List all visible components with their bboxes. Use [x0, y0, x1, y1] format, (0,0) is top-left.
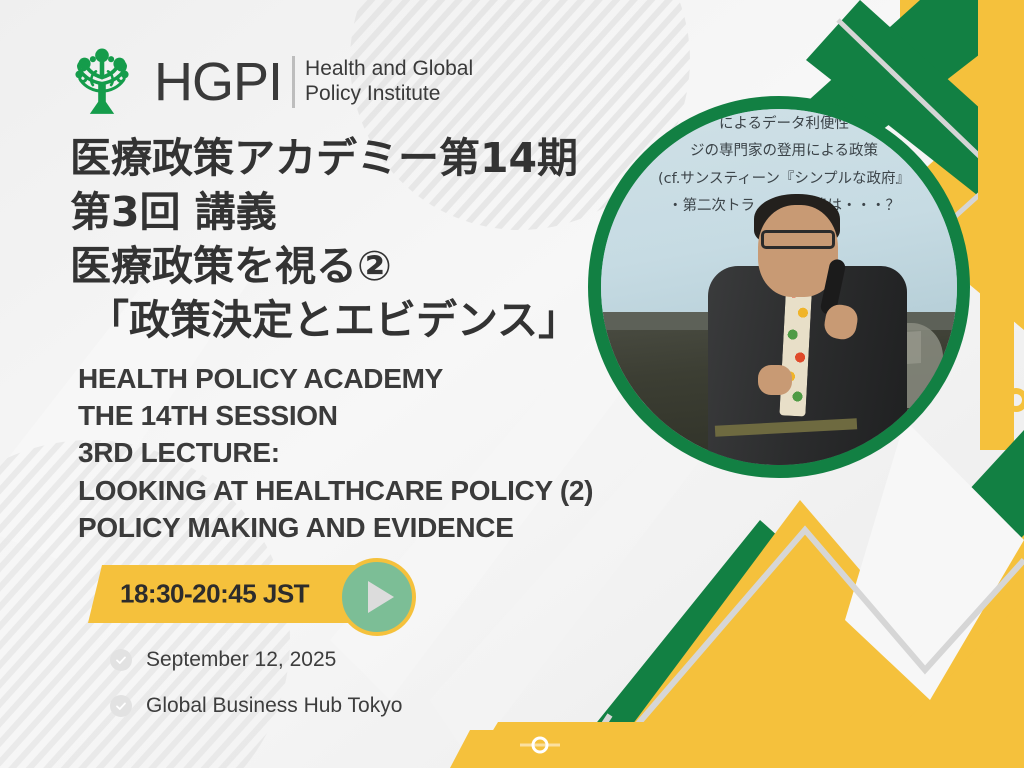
slide-text-line1: によるデータ利便性: [601, 111, 957, 138]
speaker-photo: によるデータ利便性 ジの専門家の登用による政策 (cf.サンスティーン『シンプル…: [588, 96, 970, 478]
tree-logo-icon: [64, 44, 140, 120]
list-item: Global Business Hub Tokyo: [110, 694, 402, 718]
english-title-line1: HEALTH POLICY ACADEMY: [78, 360, 593, 397]
event-date: September 12, 2025: [146, 648, 336, 672]
logo-full-name-line2: Policy Institute: [305, 82, 473, 107]
hgpi-logo: HGPI Health and Global Policy Institute: [64, 44, 473, 120]
time-badge: 18:30-20:45 JST: [88, 565, 373, 623]
play-button[interactable]: [338, 558, 416, 636]
english-title-line4: LOOKING AT HEALTHCARE POLICY (2): [78, 472, 593, 509]
english-title: HEALTH POLICY ACADEMY THE 14TH SESSION 3…: [78, 360, 593, 546]
logo-full-name: Health and Global Policy Institute: [305, 57, 473, 107]
english-title-line2: THE 14TH SESSION: [78, 397, 593, 434]
japanese-title-line3: 医療政策を視る②: [70, 239, 579, 293]
logo-wordmark: HGPI Health and Global Policy Institute: [154, 55, 473, 109]
list-item: September 12, 2025: [110, 648, 402, 672]
japanese-title: 医療政策アカデミー第14期 第3回 講義 医療政策を視る② 「政策決定とエビデン…: [70, 131, 579, 347]
japanese-title-line1: 医療政策アカデミー第14期: [70, 131, 579, 185]
poster-canvas: HGPI Health and Global Policy Institute …: [0, 0, 1024, 768]
play-icon: [368, 581, 394, 613]
event-details: September 12, 2025 Global Business Hub T…: [110, 648, 402, 740]
check-circle-icon: [110, 649, 132, 671]
logo-full-name-line1: Health and Global: [305, 57, 473, 82]
japanese-title-line4: 「政策決定とエビデンス」: [70, 293, 579, 347]
check-circle-icon: [110, 695, 132, 717]
english-title-line3: 3RD LECTURE:: [78, 434, 593, 471]
english-title-line5: POLICY MAKING AND EVIDENCE: [78, 509, 593, 546]
slide-text-line2: ジの専門家の登用による政策: [601, 138, 957, 165]
time-badge-label: 18:30-20:45 JST: [120, 579, 309, 610]
speaker-photo-inner: によるデータ利便性 ジの専門家の登用による政策 (cf.サンスティーン『シンプル…: [601, 109, 957, 465]
speaker-hand-left: [758, 365, 792, 395]
logo-divider: [292, 56, 295, 108]
slide-text-line3: (cf.サンスティーン『シンプルな政府』: [601, 166, 957, 193]
logo-abbreviation: HGPI: [154, 55, 282, 109]
event-venue: Global Business Hub Tokyo: [146, 694, 402, 718]
japanese-title-line2: 第3回 講義: [70, 185, 579, 239]
speaker-glasses: [761, 230, 835, 249]
